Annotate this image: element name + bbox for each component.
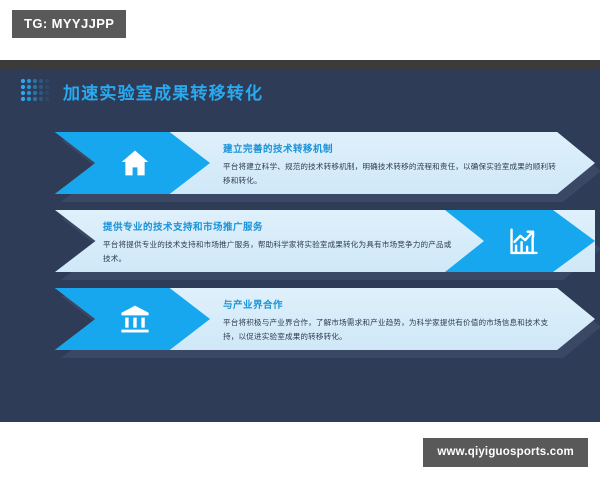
dot-grid-icon — [20, 78, 50, 104]
row-title: 提供专业的技术支持和市场推广服务 — [103, 219, 455, 233]
footer-watermark-badge: www.qiyiguosports.com — [423, 438, 588, 467]
row-body: 平台将积极与产业界合作，了解市场需求和产业趋势，为科学家提供有价值的市场信息和技… — [223, 316, 561, 344]
row-text-block: 与产业界合作 平台将积极与产业界合作，了解市场需求和产业趋势，为科学家提供有价值… — [223, 297, 561, 344]
content-row: 建立完善的技术转移机制 平台将建立科学、规范的技术转移机制，明确技术转移的流程和… — [55, 132, 595, 194]
content-row: 与产业界合作 平台将积极与产业界合作，了解市场需求和产业趋势，为科学家提供有价值… — [55, 288, 595, 350]
bank-icon — [118, 302, 152, 336]
page-title: 加速实验室成果转移转化 — [63, 79, 263, 104]
top-watermark-badge: TG: MYYJJPP — [12, 10, 126, 38]
content-rows: 建立完善的技术转移机制 平台将建立科学、规范的技术转移机制，明确技术转移的流程和… — [0, 132, 600, 350]
row-text-block: 提供专业的技术支持和市场推广服务 平台将提供专业的技术支持和市场推广服务，帮助科… — [103, 219, 455, 266]
row-body: 平台将提供专业的技术支持和市场推广服务，帮助科学家将实验室成果转化为具有市场竞争… — [103, 238, 455, 266]
slide-top-divider — [0, 60, 600, 70]
content-row: 提供专业的技术支持和市场推广服务 平台将提供专业的技术支持和市场推广服务，帮助科… — [55, 210, 595, 272]
home-icon — [118, 146, 152, 180]
row-text-block: 建立完善的技术转移机制 平台将建立科学、规范的技术转移机制，明确技术转移的流程和… — [223, 141, 561, 188]
row-body: 平台将建立科学、规范的技术转移机制，明确技术转移的流程和责任，以确保实验室成果的… — [223, 160, 561, 188]
row-title: 建立完善的技术转移机制 — [223, 141, 561, 155]
row-title: 与产业界合作 — [223, 297, 561, 311]
growth-chart-icon — [507, 224, 541, 258]
slide-panel: 加速实验室成果转移转化 建立完善的技术转移机制 平台将建立科学、规范的技术转移机… — [0, 60, 600, 422]
slide-header: 加速实验室成果转移转化 — [20, 78, 263, 104]
